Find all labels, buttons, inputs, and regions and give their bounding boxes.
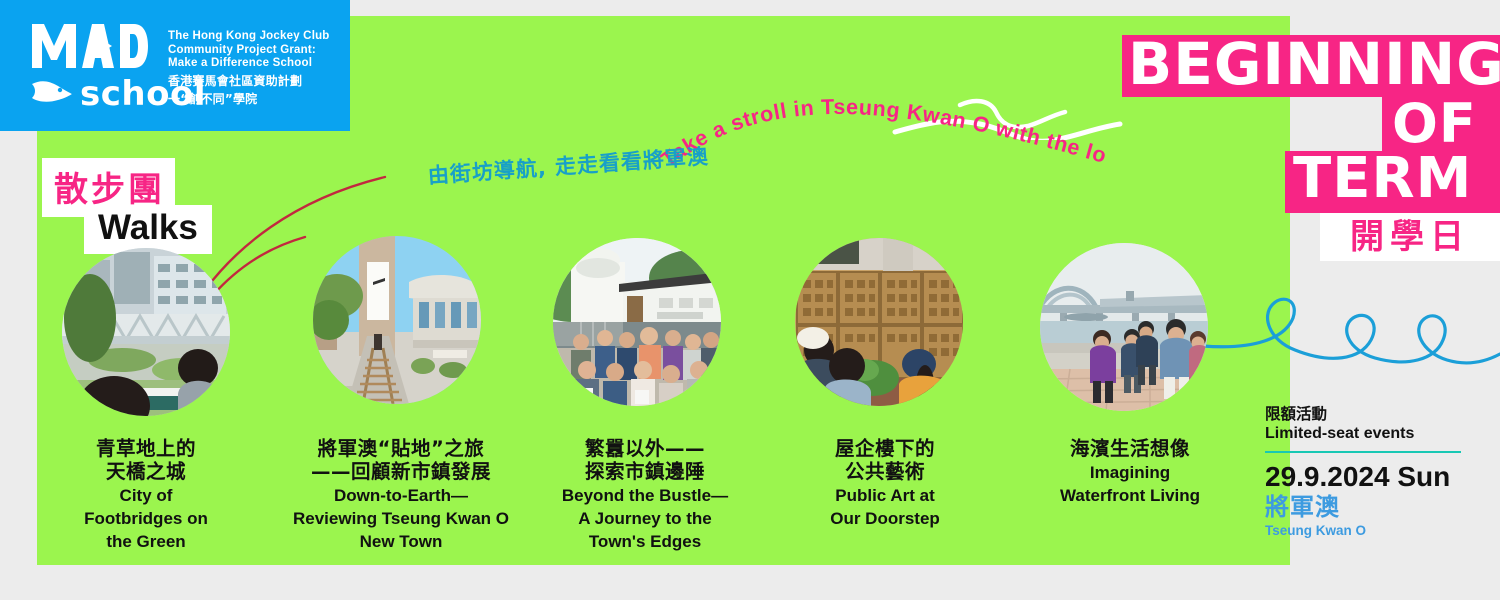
walk-1-en-line2: Footbridges on [56,508,236,529]
walk-photo-1[interactable] [62,248,230,416]
walk-3-cn-line2: 探索市鎮邊陲 [545,460,745,483]
walk-photo-3[interactable] [553,238,721,406]
limited-seat-cn: 限額活動 [1265,405,1465,424]
tagline-english-curved: Take a stroll in Tseung Kwan O with the … [400,90,1120,205]
group-photo-icon [553,238,721,406]
walk-2-cn-line1: 將軍澳“貼地”之旅 [290,437,512,460]
banner-word-beginning: BEGINNING [1128,30,1500,98]
walk-2-en-line3: New Town [290,531,512,552]
banner-word-term: TERM [1293,146,1472,211]
walk-caption-3: 繁囂以外—— 探索市鎮邊陲 Beyond the Bustle— A Journ… [545,437,745,552]
walk-caption-5: 海濱生活想像 Imagining Waterfront Living [1030,437,1230,506]
walk-photo-5[interactable] [1040,243,1208,411]
walk-3-en-line1: Beyond the Bustle— [545,485,745,506]
grant-line-1: The Hong Kong Jockey Club [168,30,330,42]
walk-caption-2: 將軍澳“貼地”之旅 ——回顧新市鎮發展 Down-to-Earth— Revie… [290,437,512,552]
poster-stage: school The Hong Kong Jockey Club Communi… [0,0,1500,600]
mad-wordmark-icon [30,22,150,70]
grant-line-2: Community Project Grant: [168,44,316,56]
walk-3-cn-line1: 繁囂以外—— [545,437,745,460]
public-art-wall-photo-icon [795,238,963,406]
banner-chinese-title: 開學日 [1320,213,1500,261]
walk-1-en-line3: the Green [56,531,236,552]
walk-caption-4: 屋企樓下的 公共藝術 Public Art at Our Doorstep [790,437,980,529]
grant-cn-1: 香港賽馬會社區資助計劃 [168,74,343,89]
fish-icon [30,78,74,106]
event-venue-en: Tseung Kwan O [1265,522,1465,539]
walk-5-cn-line1: 海濱生活想像 [1030,437,1230,460]
mad-school-logo-block: school The Hong Kong Jockey Club Communi… [0,0,350,131]
event-info-block: 限額活動 Limited-seat events 29.9.2024 Sun 將… [1265,405,1465,539]
grant-line-3: Make a Difference School [168,57,312,69]
walk-2-en-line2: Reviewing Tseung Kwan O [290,508,512,529]
walk-5-en-line1: Imagining [1030,462,1230,483]
walk-1-cn-line1: 青草地上的 [56,437,236,460]
walk-2-en-line1: Down-to-Earth— [290,485,512,506]
walk-1-en-line1: City of [56,485,236,506]
walk-caption-1: 青草地上的 天橋之城 City of Footbridges on the Gr… [56,437,236,552]
walk-4-en-line2: Our Doorstep [790,508,980,529]
waterfront-promenade-photo-icon [1040,243,1208,411]
walk-2-cn-line2: ——回顧新市鎮發展 [290,460,512,483]
section-label-english: Walks [84,205,212,254]
walk-4-cn-line2: 公共藝術 [790,460,980,483]
footbridge-photo-icon [62,248,230,416]
event-date: 29.9.2024 Sun [1265,461,1465,493]
walk-1-cn-line2: 天橋之城 [56,460,236,483]
walk-3-en-line3: Town's Edges [545,531,745,552]
grant-cn-2: 一“創不同”學院 [168,92,343,107]
walk-photo-2[interactable] [313,236,481,404]
walk-3-en-line2: A Journey to the [545,508,745,529]
walk-photo-4[interactable] [795,238,963,406]
walk-4-en-line1: Public Art at [790,485,980,506]
event-venue-cn: 將軍澳 [1265,493,1465,522]
escalator-tower-photo-icon [313,236,481,404]
walk-5-en-line2: Waterfront Living [1030,485,1230,506]
limited-seat-en: Limited-seat events [1265,424,1465,444]
info-divider [1265,451,1461,453]
grant-description: The Hong Kong Jockey Club Community Proj… [168,30,343,107]
walk-4-cn-line1: 屋企樓下的 [790,437,980,460]
